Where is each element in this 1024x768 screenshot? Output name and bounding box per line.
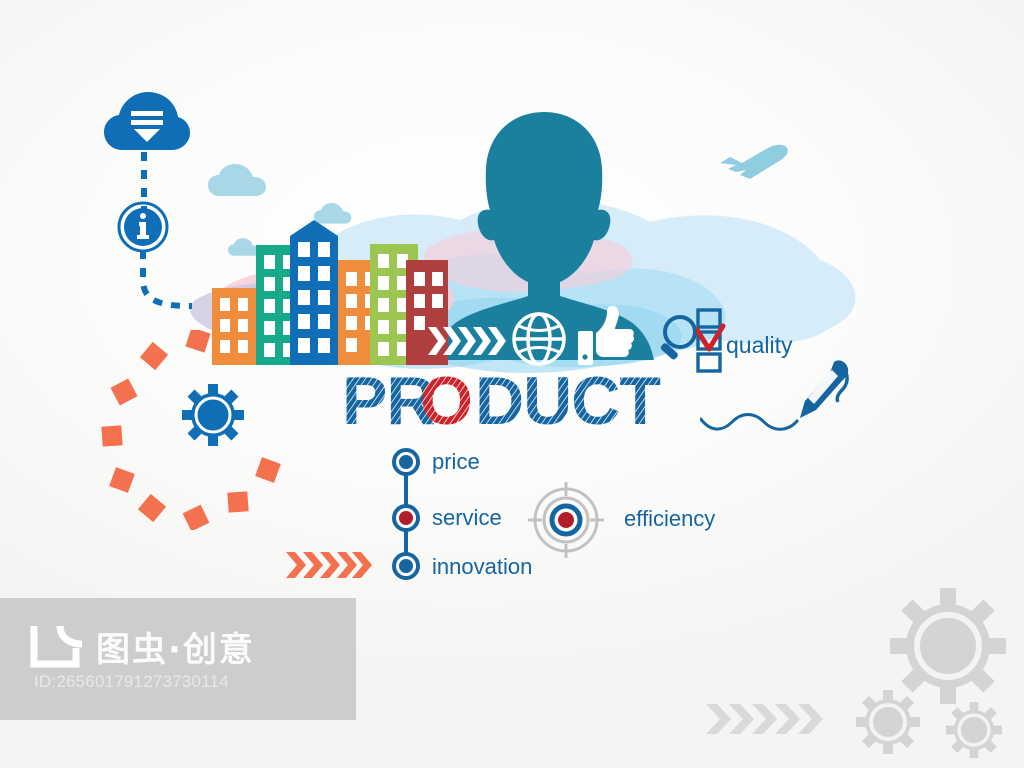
label-quality: quality	[726, 332, 792, 359]
chevron-arrows-coral	[286, 550, 374, 580]
bullet-label-service: service	[432, 505, 502, 531]
illustration-canvas: quality PR O DUCT price	[0, 0, 1024, 768]
svg-text:O: O	[420, 368, 473, 436]
label-efficiency: efficiency	[624, 506, 715, 532]
gear-icon	[946, 702, 1002, 758]
cloud-icon	[208, 164, 270, 203]
watermark-brand: 图虫·创意	[96, 622, 255, 671]
page-title: PR O DUCT	[342, 368, 732, 436]
watermark-id: ID:265601791273730114	[34, 672, 229, 692]
bullet-innovation[interactable]	[392, 552, 420, 580]
dashed-curve	[110, 250, 200, 330]
bullet-dot	[399, 559, 413, 573]
bullet-dot	[399, 511, 413, 525]
bullet-dot	[399, 455, 413, 469]
gear-icon	[890, 588, 1006, 704]
gear-icon[interactable]	[182, 384, 244, 451]
target-icon[interactable]	[528, 482, 604, 558]
chevron-arrows-gray	[706, 702, 826, 736]
airplane-icon	[714, 141, 790, 190]
checklist-icon[interactable]	[696, 308, 726, 374]
gear-icon	[856, 690, 920, 754]
globe-icon[interactable]	[511, 311, 567, 367]
watermark-logo-icon	[30, 622, 86, 668]
chevron-arrows-white	[428, 325, 506, 357]
bullet-price[interactable]	[392, 448, 420, 476]
bullet-service[interactable]	[392, 504, 420, 532]
svg-text:DUCT: DUCT	[475, 368, 660, 436]
pen-icon[interactable]	[792, 360, 850, 434]
bullet-label-price: price	[432, 449, 480, 475]
cloud-download-icon[interactable]	[104, 92, 190, 159]
bullet-label-innovation: innovation	[432, 554, 532, 580]
signature-squiggle	[700, 412, 800, 436]
watermark-overlay: 图虫·创意 ID:265601791273730114	[0, 598, 356, 720]
thumbs-up-icon[interactable]	[578, 305, 634, 367]
